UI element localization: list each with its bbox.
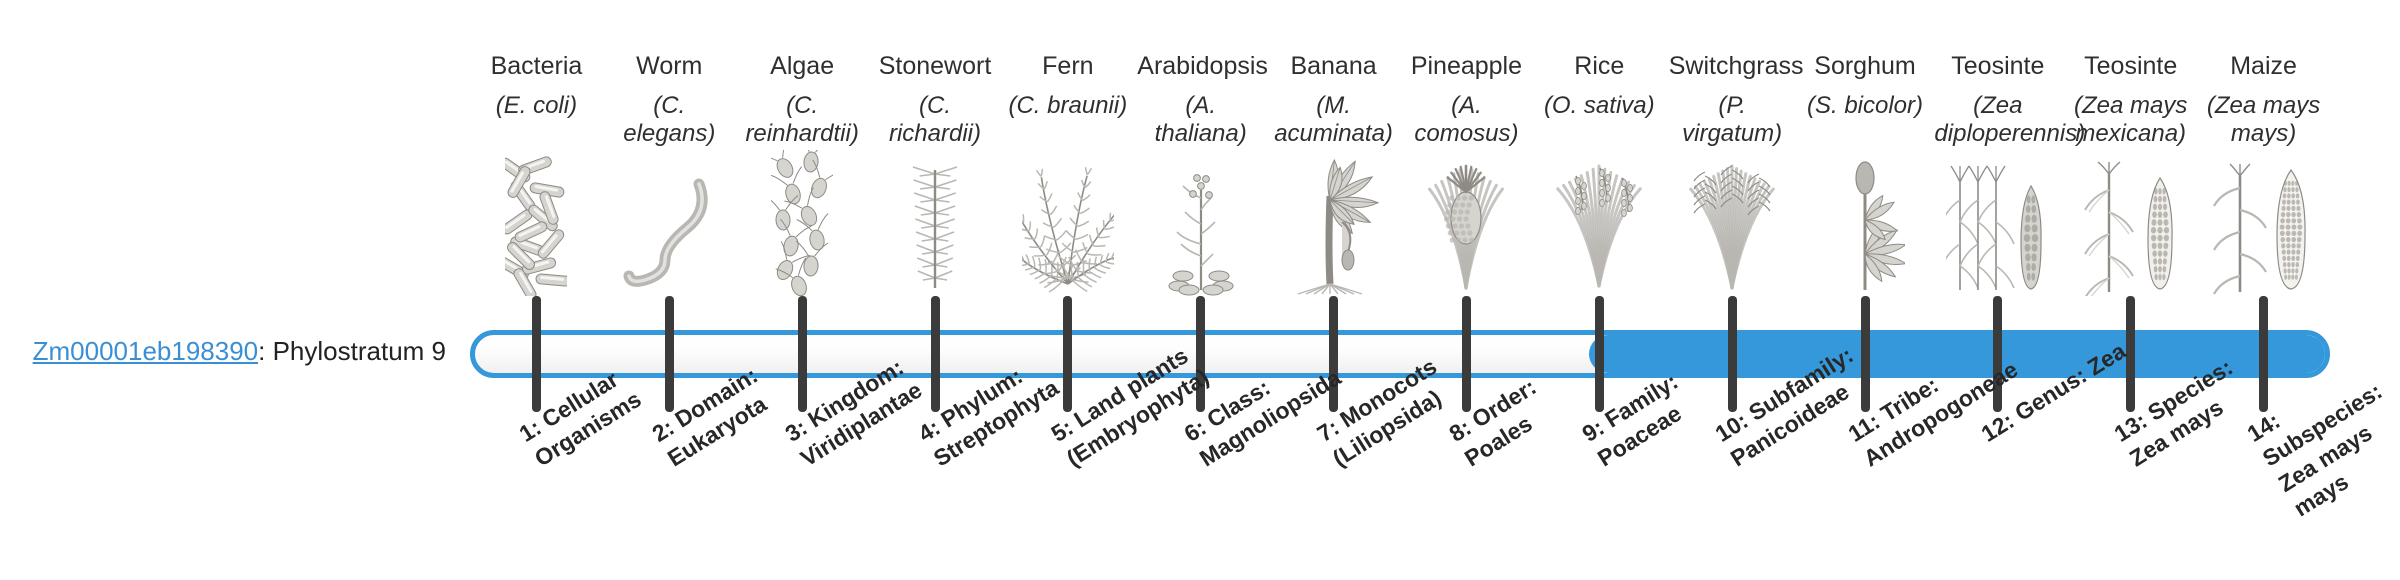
species-column-teosinte: Teosinte (Zea mays mexicana) — [2067, 52, 2194, 148]
species-scientific-name: (C. braunii) — [1004, 92, 1131, 120]
species-common-name: Maize — [2200, 52, 2327, 82]
species-common-name: Stonewort — [872, 52, 999, 82]
species-column-teosinte: Teosinte (Zea diploperennis) — [1934, 52, 2061, 148]
teosinte-mexicana-icon — [2079, 168, 2183, 296]
species-common-name: Sorghum — [1802, 52, 1929, 82]
pineapple-icon — [1428, 168, 1504, 296]
species-scientific-name: (A. comosus) — [1403, 92, 1530, 149]
rank-text: Cellular Organisms — [531, 366, 647, 472]
label-separator: : — [258, 336, 272, 366]
species-scientific-name: (C. elegans) — [606, 92, 733, 149]
species-column-stonewort: Stonewort (C. richardii) — [872, 52, 999, 148]
species-common-name: Algae — [739, 52, 866, 82]
species-column-switchgrass: Switchgrass (P. virgatum) — [1669, 52, 1796, 148]
phylostratum-value-text: Phylostratum 9 — [273, 336, 446, 366]
bacteria-icon — [505, 168, 567, 296]
rice-plant-icon — [1556, 168, 1642, 296]
species-scientific-name: (Zea mays mays) — [2200, 92, 2327, 149]
species-scientific-name: (C. richardii) — [872, 92, 999, 149]
gene-phylostratum-text: : Phylostratum 9 — [258, 336, 446, 366]
species-common-name: Switchgrass — [1669, 52, 1796, 82]
species-scientific-name: (M. acuminata) — [1270, 92, 1397, 149]
species-common-name: Rice — [1536, 52, 1663, 82]
species-common-name: Bacteria — [473, 52, 600, 82]
teosinte-diploperennis-icon — [1946, 168, 2050, 296]
species-common-name: Arabidopsis — [1137, 52, 1264, 82]
species-column-arabidopsis: Arabidopsis (A. thaliana) — [1137, 52, 1264, 148]
species-column-algae: Algae (C. reinhardtii) — [739, 52, 866, 148]
fern-icon — [1022, 168, 1114, 296]
species-column-sorghum: Sorghum (S. bicolor) — [1802, 52, 1929, 120]
species-column-pineapple: Pineapple (A. comosus) — [1403, 52, 1530, 148]
species-common-name: Fern — [1004, 52, 1131, 82]
species-scientific-name: (S. bicolor) — [1802, 92, 1929, 120]
species-scientific-name: (Zea diploperennis) — [1934, 92, 2061, 149]
maize-ear-icon — [2212, 168, 2316, 296]
species-scientific-name: (A. thaliana) — [1137, 92, 1264, 149]
species-common-name: Banana — [1270, 52, 1397, 82]
species-column-rice: Rice (O. sativa) — [1536, 52, 1663, 120]
tick-mark-1 — [532, 296, 541, 412]
species-scientific-name: (O. sativa) — [1536, 92, 1663, 120]
arabidopsis-icon — [1163, 168, 1239, 296]
rank-text: Subspecies: Zea mays mays — [2258, 378, 2387, 522]
species-column-fern: Fern (C. braunii) — [1004, 52, 1131, 120]
stonewort-icon — [899, 168, 971, 296]
phylostratum-timeline: Zm00001eb198390: Phylostratum 9 Bacteria… — [0, 0, 2400, 580]
species-column-worm: Worm (C. elegans) — [606, 52, 733, 148]
gene-phylostratum-label: Zm00001eb198390: Phylostratum 9 — [0, 336, 460, 366]
species-column-bacteria: Bacteria (E. coli) — [473, 52, 600, 120]
species-column-banana: Banana (M. acuminata) — [1270, 52, 1397, 148]
banana-plant-icon — [1288, 168, 1380, 296]
gene-id-link[interactable]: Zm00001eb198390 — [33, 336, 259, 366]
species-column-maize: Maize (Zea mays mays) — [2200, 52, 2327, 148]
sorghum-icon — [1825, 168, 1905, 296]
species-scientific-name: (C. reinhardtii) — [739, 92, 866, 149]
species-scientific-name: (P. virgatum) — [1669, 92, 1796, 149]
species-common-name: Pineapple — [1403, 52, 1530, 82]
species-scientific-name: (Zea mays mexicana) — [2067, 92, 2194, 149]
switchgrass-icon — [1689, 168, 1775, 296]
algae-icon — [771, 168, 833, 296]
species-scientific-name: (E. coli) — [473, 92, 600, 120]
species-common-name: Teosinte — [1934, 52, 2061, 82]
species-common-name: Worm — [606, 52, 733, 82]
nematode-icon — [621, 168, 717, 296]
species-common-name: Teosinte — [2067, 52, 2194, 82]
